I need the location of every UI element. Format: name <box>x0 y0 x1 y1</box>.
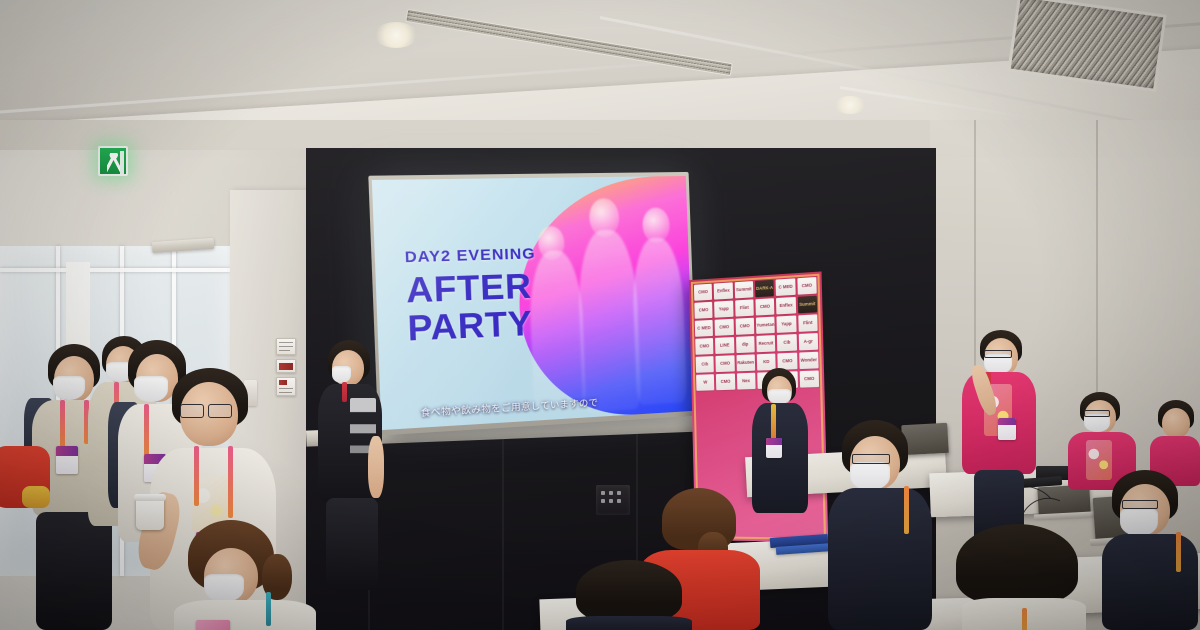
face-mask-icon <box>53 376 85 400</box>
sponsor-logo: DARK-A <box>755 280 774 298</box>
downlight-icon <box>374 22 418 48</box>
sponsor-logo: Summit <box>734 281 753 298</box>
lanyard <box>194 446 199 506</box>
sponsor-logo: CMO <box>735 318 754 335</box>
slide-photo-gradient <box>515 176 694 421</box>
face-mask-icon <box>204 574 244 602</box>
lanyard <box>228 446 233 518</box>
wall-seam <box>502 416 504 630</box>
hair <box>576 560 682 622</box>
badge <box>998 418 1016 440</box>
sponsor-logo: CMO <box>716 373 735 390</box>
badge <box>56 446 78 474</box>
sponsor-logo: Flint <box>735 299 754 316</box>
attendee-dark-hair-front <box>566 560 692 630</box>
linear-vent-icon <box>405 9 733 76</box>
attendee-black-tee-standing <box>316 340 388 590</box>
notice-placard <box>276 338 296 355</box>
sponsor-logo: Flint <box>798 314 818 332</box>
sponsor-logo: LINE <box>715 337 734 354</box>
sponsor-logo: Cib <box>696 356 715 373</box>
face-mask-icon <box>1120 508 1158 536</box>
glasses-icon <box>208 404 232 418</box>
sponsor-logo: Recruit <box>756 335 775 352</box>
arm <box>368 436 384 498</box>
sponsor-logo: CMO <box>716 355 735 372</box>
face-mask-icon <box>332 366 351 383</box>
sponsor-logo: Enflex <box>776 297 795 315</box>
sponsor-logo: C MED <box>776 278 795 296</box>
sponsor-logo: CMO <box>715 319 734 336</box>
sponsor-logo: CMO <box>694 284 712 301</box>
glasses-icon <box>1084 410 1110 417</box>
sponsor-logo: W <box>696 374 715 391</box>
attendee-ponytail-front <box>168 520 318 630</box>
slide-caption: 食べ物や飲み物をご用意していますので <box>420 396 598 420</box>
sponsor-logo: CMO <box>695 338 714 355</box>
lanyard <box>1176 532 1181 572</box>
sponsor-logo: CMO <box>694 302 713 319</box>
sponsor-logo: C MED <box>695 320 714 337</box>
sponsor-logo: Summit <box>797 296 817 314</box>
legs <box>326 498 378 590</box>
sponsor-logo: dip <box>736 336 755 353</box>
torso <box>566 616 692 630</box>
hair <box>956 524 1078 604</box>
lanyard <box>342 382 347 402</box>
slide-surface: DAY2 EVENING AFTER PARTY 食べ物や飲み物をご用意していま… <box>372 176 694 430</box>
projection-screen: DAY2 EVENING AFTER PARTY 食べ物や飲み物をご用意していま… <box>372 176 694 430</box>
slide-kicker: DAY2 EVENING <box>404 246 535 267</box>
downlight-icon <box>834 96 866 114</box>
photo-person-head <box>589 198 619 237</box>
sponsor-logo: A-gr <box>798 333 818 350</box>
torso <box>1102 534 1198 630</box>
glasses-icon <box>984 350 1012 358</box>
coffee-cup-lid <box>134 494 166 501</box>
lanyard <box>1022 608 1027 630</box>
head <box>1162 408 1190 438</box>
mullion <box>0 268 230 272</box>
glasses-icon <box>1122 500 1158 509</box>
face-mask-icon <box>850 462 890 490</box>
slide-text-block: DAY2 EVENING AFTER PARTY <box>404 246 538 348</box>
coffee-cup-icon <box>136 496 164 530</box>
attendee-laptop-navy <box>828 420 934 630</box>
photo-person-head <box>642 207 670 243</box>
sponsor-logo: Enflex <box>714 282 733 299</box>
badge <box>196 620 230 630</box>
bag-accent <box>22 486 50 508</box>
face-mask-icon <box>768 389 791 404</box>
sponsor-logo: CMO <box>755 298 774 315</box>
slide-title-l2: PARTY <box>407 305 539 348</box>
staff-standing-pink <box>962 330 1040 542</box>
sponsor-logo: Wonder <box>799 352 819 369</box>
photo-scene: DAY2 EVENING AFTER PARTY 食べ物や飲み物をご用意していま… <box>0 0 1200 630</box>
photo-person <box>576 229 641 413</box>
sponsor-logo: Cib <box>777 334 796 351</box>
attendee-red-bag-edge <box>0 446 50 530</box>
attendee-laptop-far-right <box>1102 470 1200 630</box>
sponsor-logo: Yumetan <box>756 317 775 334</box>
emergency-exit-icon <box>98 146 128 176</box>
sponsor-logo: Yapp <box>777 315 796 332</box>
badge <box>766 438 782 458</box>
lanyard <box>60 400 65 448</box>
torso <box>828 488 932 630</box>
attendee-front-bottom-right <box>956 524 1086 630</box>
glasses-icon <box>180 404 204 418</box>
lanyard <box>771 404 776 440</box>
lanyard <box>144 404 149 456</box>
lanyard <box>266 592 271 626</box>
glasses-icon <box>852 454 890 464</box>
sponsor-logo: CMO <box>797 277 817 295</box>
exit-door-bar <box>120 151 124 174</box>
lanyard <box>904 486 909 534</box>
running-person-pictogram <box>107 153 120 172</box>
photo-person <box>631 237 687 405</box>
sponsor-logo: Yapp <box>714 301 733 318</box>
slide-title-l1: AFTER <box>405 268 537 310</box>
wall-control-panel[interactable] <box>596 485 630 515</box>
